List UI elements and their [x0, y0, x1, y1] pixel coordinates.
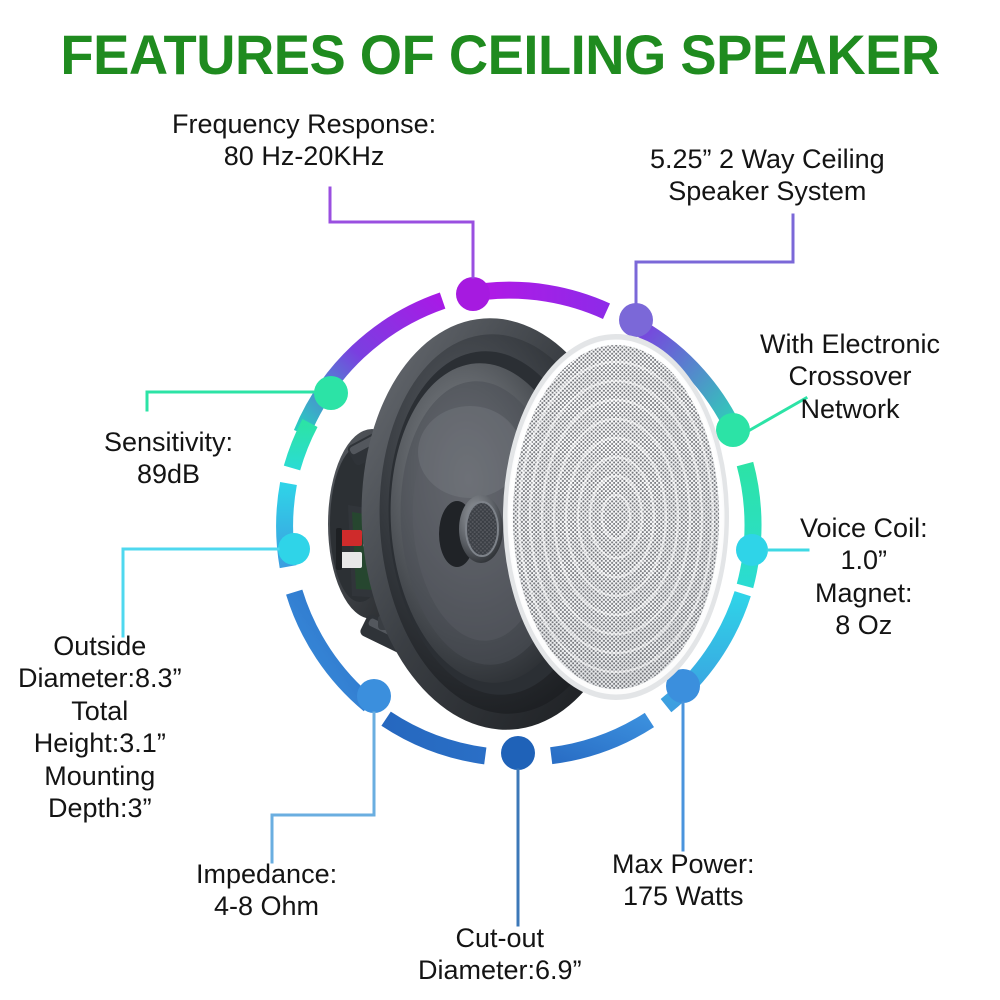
label-line: Mounting: [18, 760, 182, 792]
label-line: Network: [760, 393, 940, 425]
label-line: Frequency Response:: [172, 108, 436, 140]
connector-dimensions: [123, 549, 278, 636]
label-line: 1.0”: [800, 544, 928, 576]
label-frequency-response: Frequency Response: 80 Hz-20KHz: [172, 108, 436, 173]
label-line: Depth:3”: [18, 792, 182, 824]
label-line: Outside: [18, 630, 182, 662]
label-dimensions: Outside Diameter:8.3” Total Height:3.1” …: [18, 630, 182, 824]
label-line: Cut-out: [418, 922, 582, 954]
label-line: 89dB: [104, 458, 233, 490]
label-line: Voice Coil:: [800, 512, 928, 544]
label-line: Speaker System: [650, 175, 885, 207]
label-line: Max Power:: [612, 848, 755, 880]
connector-frequency-response: [330, 188, 473, 277]
label-line: Sensitivity:: [104, 426, 233, 458]
label-line: Crossover: [760, 360, 940, 392]
label-line: 175 Watts: [612, 880, 755, 912]
label-line: 5.25” 2 Way Ceiling: [650, 143, 885, 175]
label-speaker-system: 5.25” 2 Way Ceiling Speaker System: [650, 143, 885, 208]
label-crossover-network: With Electronic Crossover Network: [760, 328, 940, 425]
label-sensitivity: Sensitivity: 89dB: [104, 426, 233, 491]
label-voice-coil: Voice Coil: 1.0” Magnet: 8 Oz: [800, 512, 928, 642]
label-line: Height:3.1”: [18, 727, 182, 759]
label-line: Diameter:6.9”: [418, 954, 582, 986]
connector-impedance: [272, 713, 374, 862]
label-line: 8 Oz: [800, 609, 928, 641]
label-line: 4-8 Ohm: [196, 890, 337, 922]
connector-speaker-system: [636, 215, 793, 303]
infographic-canvas: FEATURES OF CEILING SPEAKER: [0, 0, 1000, 1000]
label-line: 80 Hz-20KHz: [172, 140, 436, 172]
label-line: Impedance:: [196, 858, 337, 890]
connector-sensitivity: [147, 392, 314, 410]
label-line: Total: [18, 695, 182, 727]
label-cut-out-diameter: Cut-out Diameter:6.9”: [418, 922, 582, 987]
label-line: Diameter:8.3”: [18, 662, 182, 694]
label-line: Magnet:: [800, 577, 928, 609]
label-impedance: Impedance: 4-8 Ohm: [196, 858, 337, 923]
label-max-power: Max Power: 175 Watts: [612, 848, 755, 913]
label-line: With Electronic: [760, 328, 940, 360]
